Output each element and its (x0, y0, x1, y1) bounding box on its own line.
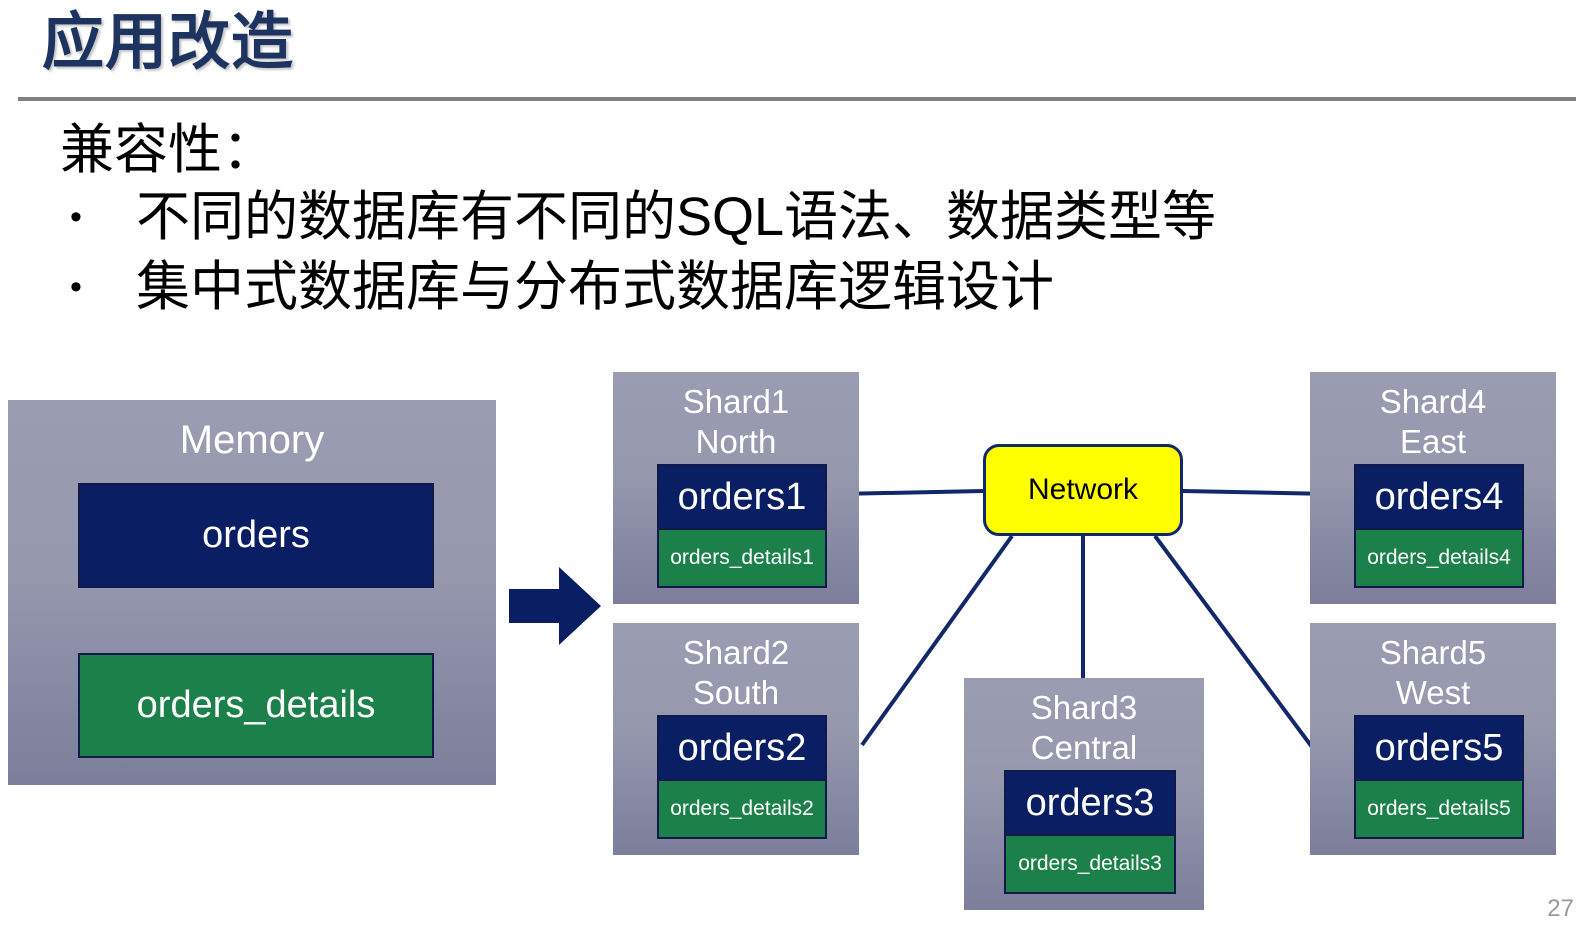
edge-network-shard4 (1183, 491, 1330, 494)
shard3-table-orders-details: orders_details3 (1006, 834, 1174, 892)
lead-line: 兼容性： (60, 118, 1540, 182)
memory-table-orders-details: orders_details (78, 653, 434, 758)
shard1-table-orders: orders1 (659, 466, 825, 528)
bullet-item-2-label: 集中式数据库与分布式数据库逻辑设计 (136, 252, 1540, 322)
shard2-title: Shard2 South (613, 623, 859, 713)
memory-table-orders: orders (78, 483, 434, 588)
title-divider (18, 97, 1576, 101)
shard4-tables: orders4 orders_details4 (1354, 464, 1524, 588)
edge-network-shard1 (838, 491, 983, 494)
bullet-item-1-label: 不同的数据库有不同的SQL语法、数据类型等 (136, 182, 1540, 252)
shard2-table-orders: orders2 (659, 717, 825, 779)
page-title: 应用改造 (42, 4, 294, 82)
page-number: 27 (1547, 895, 1574, 923)
shard3-title: Shard3 Central (964, 678, 1204, 768)
shard-panel-shard4: Shard4 East orders4 orders_details4 (1310, 372, 1556, 604)
shard3-table-orders: orders3 (1006, 772, 1174, 834)
shard1-table-orders-details: orders_details1 (659, 528, 825, 586)
shard-panel-shard2: Shard2 South orders2 orders_details2 (613, 623, 859, 855)
bullet-dot-icon: • (60, 252, 136, 322)
memory-panel-title: Memory (8, 400, 496, 464)
shard5-table-orders-details: orders_details5 (1356, 779, 1522, 837)
network-node: Network (983, 444, 1183, 536)
body-text-block: 兼容性： • 不同的数据库有不同的SQL语法、数据类型等 • 集中式数据库与分布… (60, 118, 1540, 322)
memory-panel: Memory orders orders_details (8, 400, 496, 785)
shard2-tables: orders2 orders_details2 (657, 715, 827, 839)
shard5-tables: orders5 orders_details5 (1354, 715, 1524, 839)
shard1-title: Shard1 North (613, 372, 859, 462)
right-arrow-icon (509, 567, 601, 645)
shard4-table-orders: orders4 (1356, 466, 1522, 528)
shard5-table-orders: orders5 (1356, 717, 1522, 779)
shard4-table-orders-details: orders_details4 (1356, 528, 1522, 586)
shard2-table-orders-details: orders_details2 (659, 779, 825, 837)
shard-panel-shard3: Shard3 Central orders3 orders_details3 (964, 678, 1204, 910)
shard1-tables: orders1 orders_details1 (657, 464, 827, 588)
shard4-title: Shard4 East (1310, 372, 1556, 462)
bullet-dot-icon: • (60, 182, 136, 252)
shard3-tables: orders3 orders_details3 (1004, 770, 1176, 894)
sharding-diagram: Memory orders orders_details Shard1 Nort… (0, 355, 1594, 939)
shard-panel-shard5: Shard5 West orders5 orders_details5 (1310, 623, 1556, 855)
bullet-item-2: • 集中式数据库与分布式数据库逻辑设计 (60, 252, 1540, 322)
shard5-title: Shard5 West (1310, 623, 1556, 713)
shard-panel-shard1: Shard1 North orders1 orders_details1 (613, 372, 859, 604)
bullet-item-1: • 不同的数据库有不同的SQL语法、数据类型等 (60, 182, 1540, 252)
